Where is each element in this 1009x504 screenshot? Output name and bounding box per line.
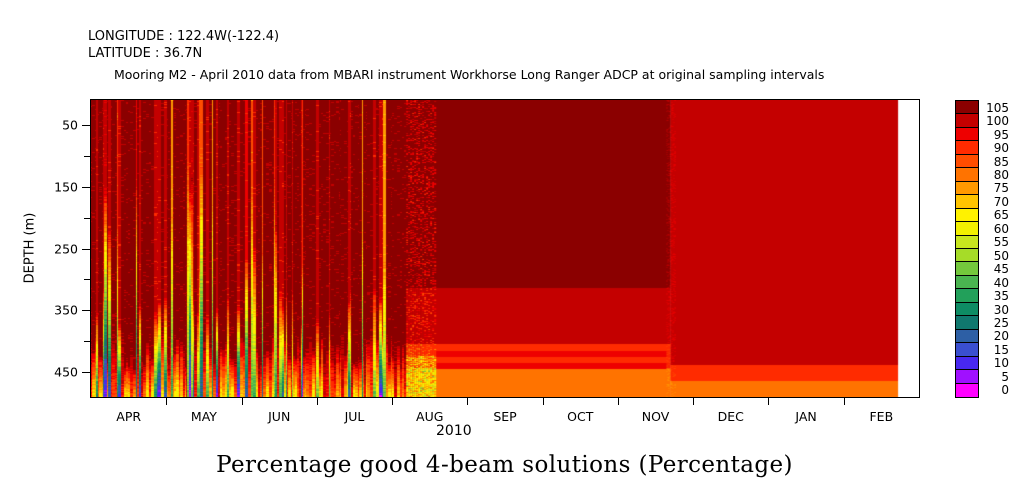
y-axis-tick: [82, 249, 91, 250]
colorbar-swatch: [956, 182, 978, 195]
colorbar-tick-label: 20: [983, 329, 1009, 343]
colorbar-swatch: [956, 101, 978, 114]
colorbar-swatch: [956, 249, 978, 262]
x-axis-tick-label: JAN: [795, 409, 816, 424]
x-axis-tick: [467, 397, 468, 405]
colorbar-swatch: [956, 128, 978, 141]
colorbar-swatch: [956, 384, 978, 397]
colorbar-swatch: [956, 114, 978, 127]
y-axis-minor-tick: [84, 218, 91, 219]
colorbar-tick-label: 75: [983, 181, 1009, 195]
x-axis-tick-label: SEP: [493, 409, 516, 424]
x-axis-tick-label: AUG: [416, 409, 443, 424]
x-axis-tick: [543, 397, 544, 405]
x-axis-tick-label: NOV: [642, 409, 670, 424]
x-axis-tick-label: JUL: [345, 409, 365, 424]
y-axis-tick-label: 350: [54, 303, 78, 318]
colorbar-tick-label: 95: [983, 128, 1009, 142]
y-axis-tick: [82, 372, 91, 373]
colorbar-tick-label: 55: [983, 235, 1009, 249]
y-axis-tick-label: 250: [54, 241, 78, 256]
x-axis-tick-label: JUN: [268, 409, 290, 424]
longitude-line: LONGITUDE : 122.4W(-122.4): [88, 28, 279, 45]
station-coordinates: LONGITUDE : 122.4W(-122.4) LATITUDE : 36…: [88, 28, 279, 62]
latitude-line: LATITUDE : 36.7N: [88, 45, 279, 62]
colorbar-tick-label: 40: [983, 276, 1009, 290]
chart-caption: Percentage good 4-beam solutions (Percen…: [0, 452, 1009, 478]
colorbar-tick-label: 60: [983, 222, 1009, 236]
x-axis-tick: [844, 397, 845, 405]
colorbar-tick-label: 90: [983, 141, 1009, 155]
colorbar-tick-label: 80: [983, 168, 1009, 182]
y-axis-label: DEPTH (m): [23, 213, 38, 284]
colorbar-swatch: [956, 222, 978, 235]
y-axis-tick: [82, 187, 91, 188]
y-axis-tick: [82, 310, 91, 311]
colorbar-tick-label: 105: [983, 101, 1009, 115]
colorbar-swatch: [956, 236, 978, 249]
colorbar-tick-label: 35: [983, 289, 1009, 303]
colorbar: 1051009590858075706560555045403530252015…: [955, 100, 979, 398]
x-axis-tick: [166, 397, 167, 405]
x-axis-tick-label: FEB: [869, 409, 893, 424]
colorbar-swatch: [956, 195, 978, 208]
x-axis-tick-label: DEC: [718, 409, 744, 424]
colorbar-swatch: [956, 370, 978, 383]
colorbar-swatch: [956, 168, 978, 181]
colorbar-swatch: [956, 343, 978, 356]
colorbar-tick-label: 70: [983, 195, 1009, 209]
colorbar-tick-label: 65: [983, 208, 1009, 222]
x-axis-label: 2010: [436, 423, 472, 439]
colorbar-tick-label: 50: [983, 249, 1009, 263]
y-axis-minor-tick: [84, 279, 91, 280]
colorbar-tick-label: 0: [983, 383, 1009, 397]
colorbar-tick-label: 45: [983, 262, 1009, 276]
colorbar-swatch: [956, 141, 978, 154]
colorbar-swatch: [956, 316, 978, 329]
y-axis-tick: [82, 125, 91, 126]
colorbar-swatch: [956, 330, 978, 343]
colorbar-tick-label: 85: [983, 155, 1009, 169]
y-axis-tick-label: 450: [54, 365, 78, 380]
colorbar-swatch: [956, 289, 978, 302]
x-axis-tick: [317, 397, 318, 405]
heatmap-canvas: [91, 100, 919, 397]
x-axis-tick-label: APR: [116, 409, 141, 424]
colorbar-tick-label: 100: [983, 114, 1009, 128]
colorbar-swatch: [956, 303, 978, 316]
y-axis-tick-label: 150: [54, 179, 78, 194]
y-axis-tick-label: 50: [62, 117, 78, 132]
x-axis-tick: [618, 397, 619, 405]
colorbar-swatch: [956, 276, 978, 289]
colorbar-tick-label: 10: [983, 356, 1009, 370]
x-axis-tick: [392, 397, 393, 405]
colorbar-swatch: [956, 357, 978, 370]
x-axis-tick-label: MAY: [191, 409, 217, 424]
chart-subtitle: Mooring M2 - April 2010 data from MBARI …: [114, 67, 824, 82]
colorbar-swatch: [956, 262, 978, 275]
colorbar-tick-label: 25: [983, 316, 1009, 330]
y-axis-minor-tick: [84, 156, 91, 157]
x-axis-tick: [768, 397, 769, 405]
colorbar-tick-label: 30: [983, 303, 1009, 317]
colorbar-tick-label: 5: [983, 370, 1009, 384]
y-axis-minor-tick: [84, 341, 91, 342]
x-axis-tick: [693, 397, 694, 405]
heatmap-plot-area: 50150250350450 APRMAYJUNJULAUGSEPOCTNOVD…: [90, 99, 920, 398]
x-axis-tick: [242, 397, 243, 405]
x-axis-tick-label: OCT: [567, 409, 593, 424]
colorbar-tick-label: 15: [983, 343, 1009, 357]
colorbar-swatch: [956, 155, 978, 168]
colorbar-swatch: [956, 209, 978, 222]
